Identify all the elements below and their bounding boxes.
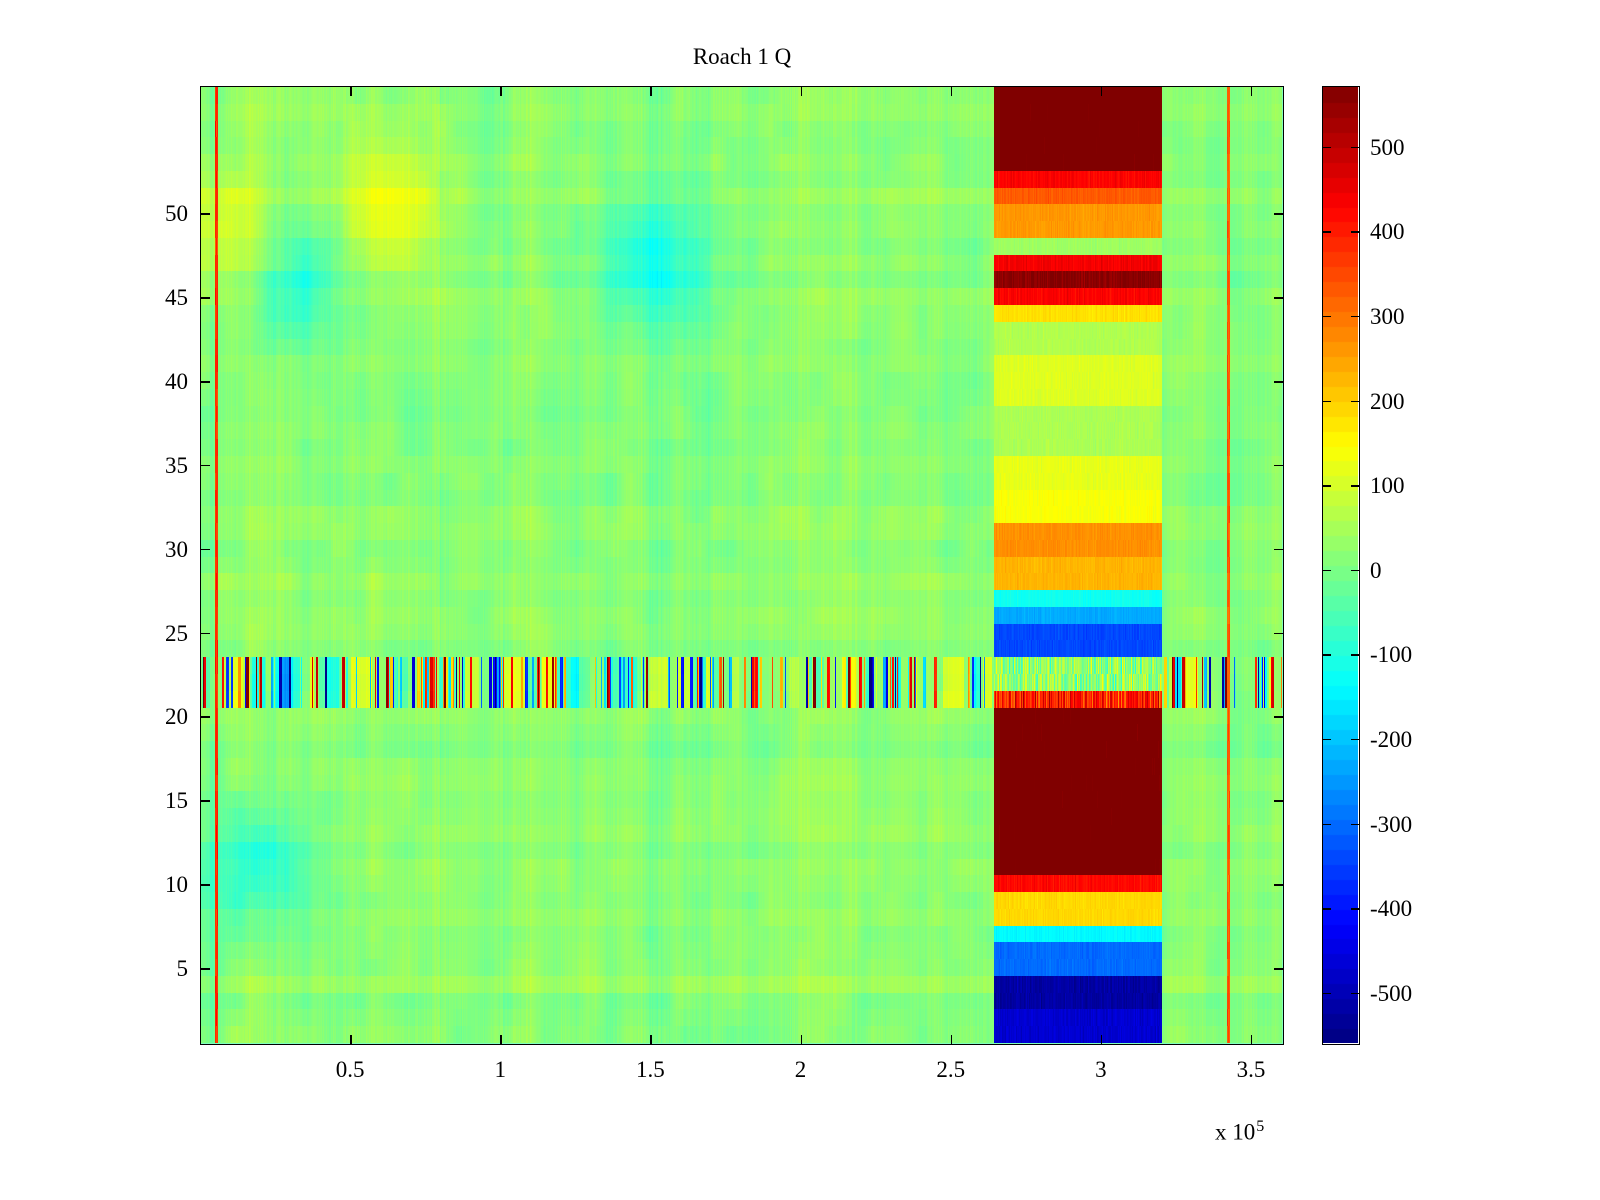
y-tick-left xyxy=(201,884,210,886)
y-tick-right xyxy=(1274,381,1283,383)
colorbar-tick xyxy=(1323,739,1331,741)
colorbar-tick xyxy=(1351,824,1359,826)
x-tick-bottom xyxy=(500,1035,502,1044)
colorbar-tick xyxy=(1323,824,1331,826)
y-ticklabel: 15 xyxy=(148,788,188,814)
colorbar-tick xyxy=(1351,401,1359,403)
colorbar-tick xyxy=(1351,739,1359,741)
y-tick-right xyxy=(1274,800,1283,802)
colorbar-tick xyxy=(1323,993,1331,995)
x-exponent-power: 5 xyxy=(1256,1118,1264,1135)
y-tick-left xyxy=(201,381,210,383)
x-axis-exponent-label: x 105 xyxy=(1215,1118,1264,1146)
x-tick-top xyxy=(350,87,352,96)
x-ticklabel: 0.5 xyxy=(336,1057,365,1083)
y-tick-right xyxy=(1274,213,1283,215)
colorbar-ticklabel: 200 xyxy=(1370,389,1405,415)
y-ticklabel: 25 xyxy=(148,621,188,647)
y-ticklabel: 5 xyxy=(148,956,188,982)
y-tick-right xyxy=(1274,884,1283,886)
x-tick-bottom xyxy=(1101,1035,1103,1044)
colorbar-tick xyxy=(1351,316,1359,318)
colorbar-ticklabel: 500 xyxy=(1370,135,1405,161)
x-ticklabel: 2 xyxy=(795,1057,807,1083)
colorbar-tick xyxy=(1323,570,1331,572)
x-tick-bottom xyxy=(350,1035,352,1044)
heatmap-axes[interactable] xyxy=(200,86,1284,1045)
colorbar[interactable] xyxy=(1322,86,1360,1045)
y-ticklabel: 10 xyxy=(148,872,188,898)
y-tick-right xyxy=(1274,633,1283,635)
colorbar-tick xyxy=(1351,570,1359,572)
x-tick-top xyxy=(801,87,803,96)
y-tick-right xyxy=(1274,549,1283,551)
y-tick-right xyxy=(1274,297,1283,299)
colorbar-tick xyxy=(1351,485,1359,487)
x-ticklabel: 1.5 xyxy=(636,1057,665,1083)
x-tick-top xyxy=(951,87,953,96)
x-exponent-base: x 10 xyxy=(1215,1120,1255,1145)
colorbar-ticklabel: -300 xyxy=(1370,812,1412,838)
x-tick-bottom xyxy=(801,1035,803,1044)
x-tick-top xyxy=(1101,87,1103,96)
colorbar-ticklabel: -500 xyxy=(1370,981,1412,1007)
colorbar-ticklabel: 400 xyxy=(1370,219,1405,245)
colorbar-tick xyxy=(1323,147,1331,149)
colorbar-tick xyxy=(1323,654,1331,656)
x-tick-bottom xyxy=(1251,1035,1253,1044)
colorbar-tick xyxy=(1351,231,1359,233)
x-ticklabel: 3 xyxy=(1095,1057,1107,1083)
colorbar-tick xyxy=(1323,485,1331,487)
colorbar-tick xyxy=(1351,993,1359,995)
colorbar-tick xyxy=(1323,231,1331,233)
y-tick-left xyxy=(201,297,210,299)
page-title: Roach 1 Q xyxy=(200,44,1284,70)
colorbar-ticklabel: 0 xyxy=(1370,558,1382,584)
x-tick-bottom xyxy=(951,1035,953,1044)
colorbar-ticklabel: 100 xyxy=(1370,473,1405,499)
x-tick-bottom xyxy=(650,1035,652,1044)
colorbar-tick xyxy=(1323,908,1331,910)
y-tick-left xyxy=(201,716,210,718)
y-ticklabel: 40 xyxy=(148,369,188,395)
colorbar-ticklabel: -200 xyxy=(1370,727,1412,753)
y-tick-left xyxy=(201,968,210,970)
colorbar-tick xyxy=(1351,908,1359,910)
y-ticklabel: 35 xyxy=(148,453,188,479)
x-ticklabel: 1 xyxy=(495,1057,507,1083)
y-ticklabel: 20 xyxy=(148,704,188,730)
y-tick-right xyxy=(1274,465,1283,467)
colorbar-tick xyxy=(1351,147,1359,149)
y-tick-left xyxy=(201,800,210,802)
x-ticklabel: 3.5 xyxy=(1237,1057,1266,1083)
y-tick-left xyxy=(201,213,210,215)
colorbar-ticklabel: -100 xyxy=(1370,642,1412,668)
x-tick-top xyxy=(1251,87,1253,96)
x-ticklabel: 2.5 xyxy=(936,1057,965,1083)
y-ticklabel: 30 xyxy=(148,537,188,563)
y-tick-left xyxy=(201,633,210,635)
colorbar-ticklabel: -400 xyxy=(1370,896,1412,922)
y-tick-right xyxy=(1274,716,1283,718)
heatmap-image xyxy=(201,87,1282,1043)
figure-root: Roach 1 Q 0.511.522.533.5 51015202530354… xyxy=(0,0,1600,1200)
colorbar-tick xyxy=(1351,654,1359,656)
x-tick-top xyxy=(500,87,502,96)
y-ticklabel: 45 xyxy=(148,285,188,311)
y-tick-right xyxy=(1274,968,1283,970)
y-tick-left xyxy=(201,549,210,551)
colorbar-tick xyxy=(1323,316,1331,318)
y-tick-left xyxy=(201,465,210,467)
colorbar-tick xyxy=(1323,401,1331,403)
x-tick-top xyxy=(650,87,652,96)
colorbar-ticklabel: 300 xyxy=(1370,304,1405,330)
y-ticklabel: 50 xyxy=(148,201,188,227)
